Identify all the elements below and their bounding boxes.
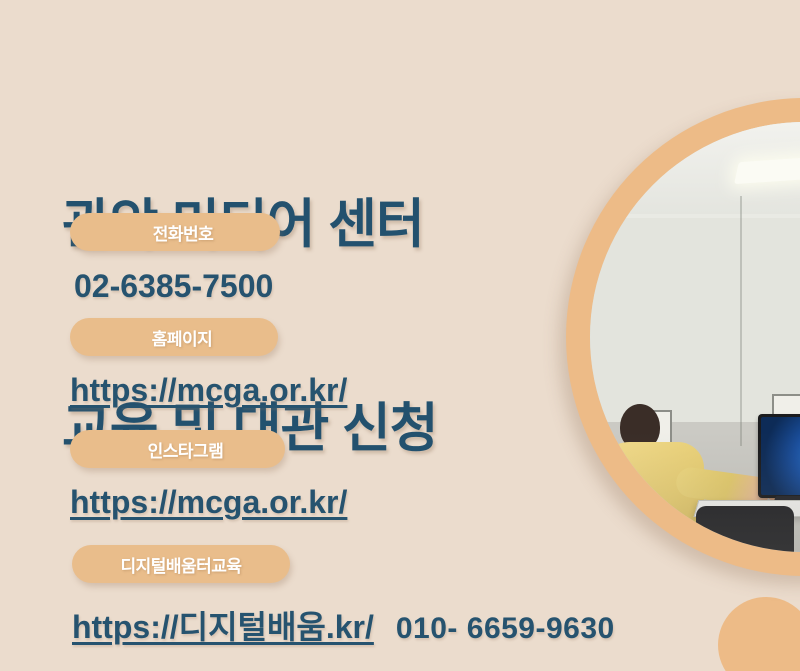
floor-shading <box>590 432 800 552</box>
link-instagram[interactable]: https://mcga.or.kr/ <box>70 484 347 521</box>
link-digital-education[interactable]: https://디지털배움.kr/ <box>72 602 374 648</box>
digital-education-row: https://디지털배움.kr/ 010- 6659-9630 <box>72 602 615 648</box>
decorative-circle-accent <box>718 597 800 671</box>
label-pill-phone-text: 전화번호 <box>153 220 214 245</box>
label-pill-digital-education: 디지털배움터교육 <box>72 545 290 583</box>
link-homepage[interactable]: https://mcga.or.kr/ <box>70 372 347 409</box>
poster-root: 관악 미디어 센터 교육 및 대관 신청 전화번호 02-6385-7500 홈… <box>0 0 800 671</box>
label-pill-homepage: 홈페이지 <box>70 318 278 356</box>
classroom-photo <box>590 122 800 552</box>
content-column: 관악 미디어 센터 교육 및 대관 신청 전화번호 02-6385-7500 홈… <box>0 0 580 671</box>
label-pill-instagram-text: 인스타그램 <box>148 437 224 462</box>
value-digital-education-phone: 010- 6659-9630 <box>396 612 615 646</box>
label-pill-instagram: 인스타그램 <box>70 430 285 468</box>
classroom-scene <box>590 122 800 552</box>
label-pill-digital-education-text: 디지털배움터교육 <box>120 552 241 577</box>
classroom-photo-ring <box>566 98 800 576</box>
value-phone: 02-6385-7500 <box>74 268 273 305</box>
label-pill-homepage-text: 홈페이지 <box>152 325 213 350</box>
wall-corner <box>740 196 742 446</box>
label-pill-phone: 전화번호 <box>70 213 280 251</box>
